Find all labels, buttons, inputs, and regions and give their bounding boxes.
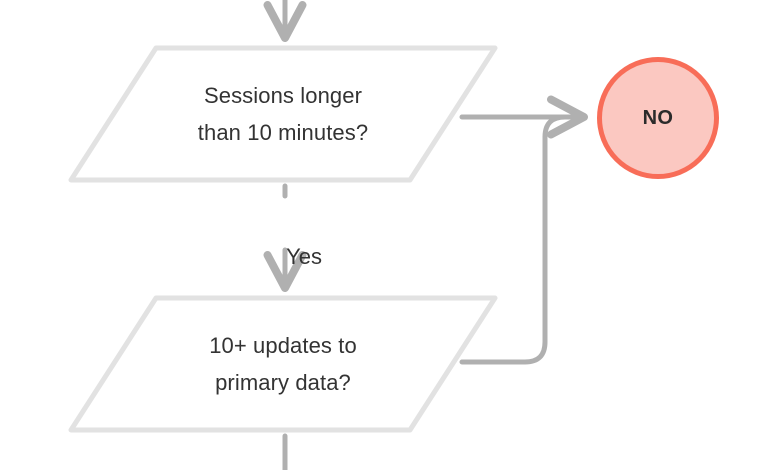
- terminal-node-no-label: NO: [597, 57, 719, 179]
- decision-node-sessions-duration-label: Sessions longer than 10 minutes?: [68, 45, 498, 183]
- decision-label-line-2: primary data?: [215, 364, 351, 401]
- decision-node-primary-data-updates-label: 10+ updates to primary data?: [68, 295, 498, 433]
- decision-label-line-1: Sessions longer: [204, 77, 362, 114]
- decision-node-primary-data-updates[interactable]: 10+ updates to primary data?: [68, 295, 498, 433]
- edge-label-yes: Yes: [252, 218, 332, 296]
- flowchart-canvas: Sessions longer than 10 minutes? 10+ upd…: [0, 0, 780, 470]
- decision-node-sessions-duration[interactable]: Sessions longer than 10 minutes?: [68, 45, 498, 183]
- terminal-node-no[interactable]: NO: [597, 57, 719, 179]
- decision-label-line-1: 10+ updates to: [209, 327, 357, 364]
- decision-label-line-2: than 10 minutes?: [198, 114, 368, 151]
- edge-label-yes-text: Yes: [286, 244, 322, 269]
- terminal-label-text: NO: [643, 100, 674, 137]
